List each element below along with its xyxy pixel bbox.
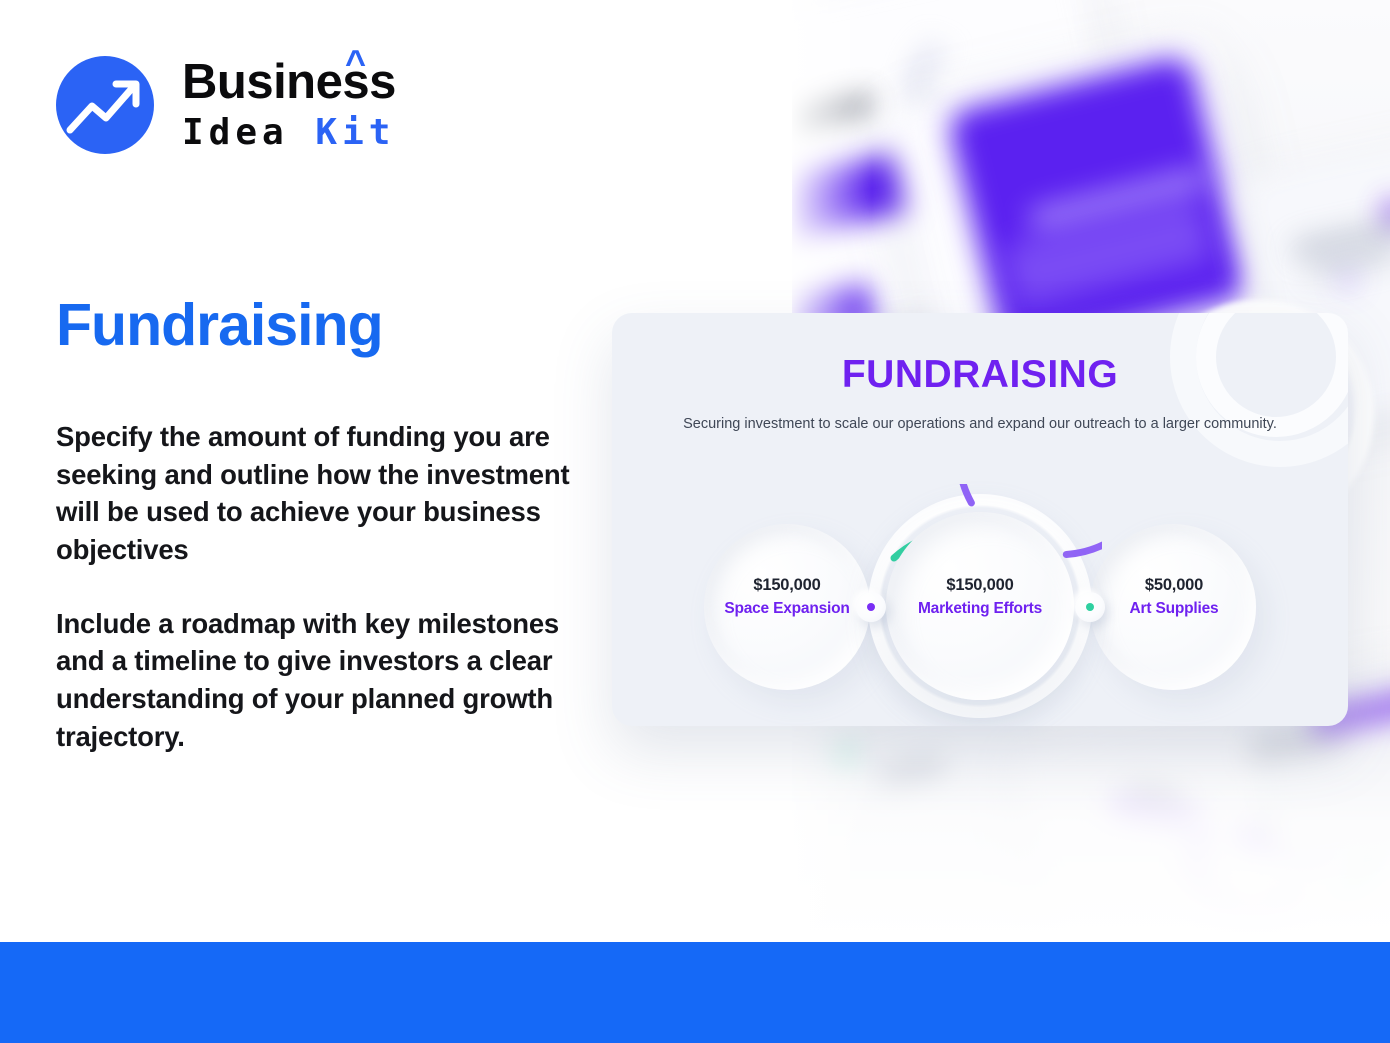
funding-amount: $50,000 — [1079, 576, 1269, 595]
purple-node-icon — [856, 592, 886, 622]
bg-purple-dot-icon-2 — [1340, 272, 1356, 288]
fundraising-preview-card[interactable]: FUNDRAISING Securing investment to scale… — [612, 313, 1348, 726]
paragraph-1: Specify the amount of funding you are se… — [56, 418, 576, 569]
funding-label-left: $150,000 Space Expansion — [692, 576, 882, 618]
circumflex-accent-icon: ^ — [345, 45, 366, 81]
card-title: FUNDRAISING — [612, 353, 1348, 397]
brand-logo: Business ^ Idea Kit — [56, 56, 396, 154]
funding-label-right: $50,000 Art Supplies — [1079, 576, 1269, 618]
funding-breakdown-diagram: $150,000 Space Expansion $150,000 Market… — [612, 488, 1348, 726]
funding-label-center: $150,000 Marketing Efforts — [885, 576, 1075, 618]
funding-category: Marketing Efforts — [885, 600, 1075, 618]
funding-category: Art Supplies — [1079, 600, 1269, 618]
footer-bar — [0, 942, 1390, 1043]
funding-category: Space Expansion — [692, 600, 882, 618]
funding-amount: $150,000 — [885, 576, 1075, 595]
brand-kit-text: Kit — [315, 112, 395, 153]
card-subtitle: Securing investment to scale our operati… — [612, 414, 1348, 435]
paragraph-2: Include a roadmap with key milestones an… — [56, 605, 576, 756]
brand-line-idea-kit: Idea Kit — [182, 113, 396, 153]
brand-line-business: Business ^ — [182, 58, 396, 107]
body-copy: Specify the amount of funding you are se… — [56, 418, 576, 755]
page-title: Fundraising — [56, 296, 383, 355]
growth-arrow-icon — [56, 56, 154, 154]
funding-amount: $150,000 — [692, 576, 882, 595]
brand-wordmark: Business ^ Idea Kit — [182, 58, 396, 153]
green-node-icon — [1075, 592, 1105, 622]
slide-page: Business ^ Idea Kit Fundraising Specify … — [0, 0, 1390, 1043]
brand-idea-text: Idea — [182, 112, 289, 153]
